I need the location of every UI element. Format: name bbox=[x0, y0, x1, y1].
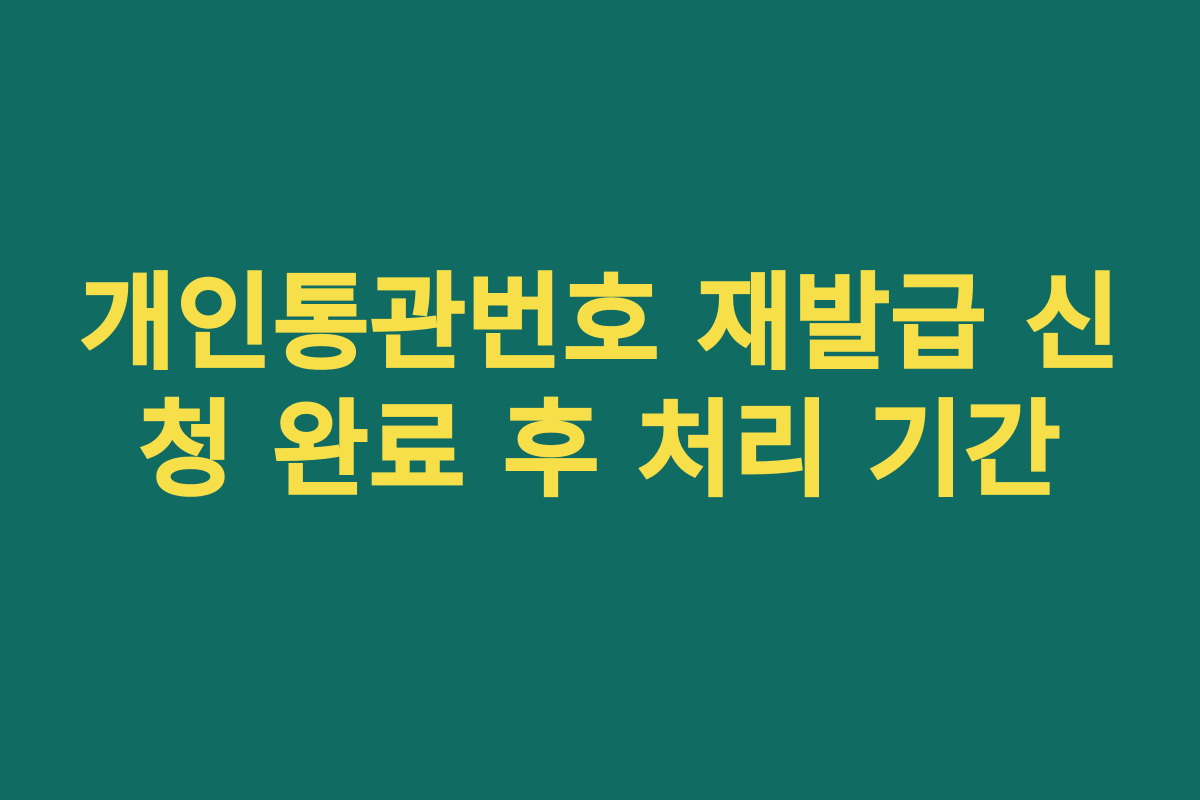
thumbnail-banner: 개인통관번호 재발급 신 청 완료 후 처리 기간 bbox=[0, 0, 1200, 800]
page-title: 개인통관번호 재발급 신 청 완료 후 처리 기간 bbox=[80, 260, 1120, 514]
title-line-2: 청 완료 후 처리 기간 bbox=[80, 387, 1120, 514]
title-line-1: 개인통관번호 재발급 신 bbox=[80, 260, 1120, 387]
